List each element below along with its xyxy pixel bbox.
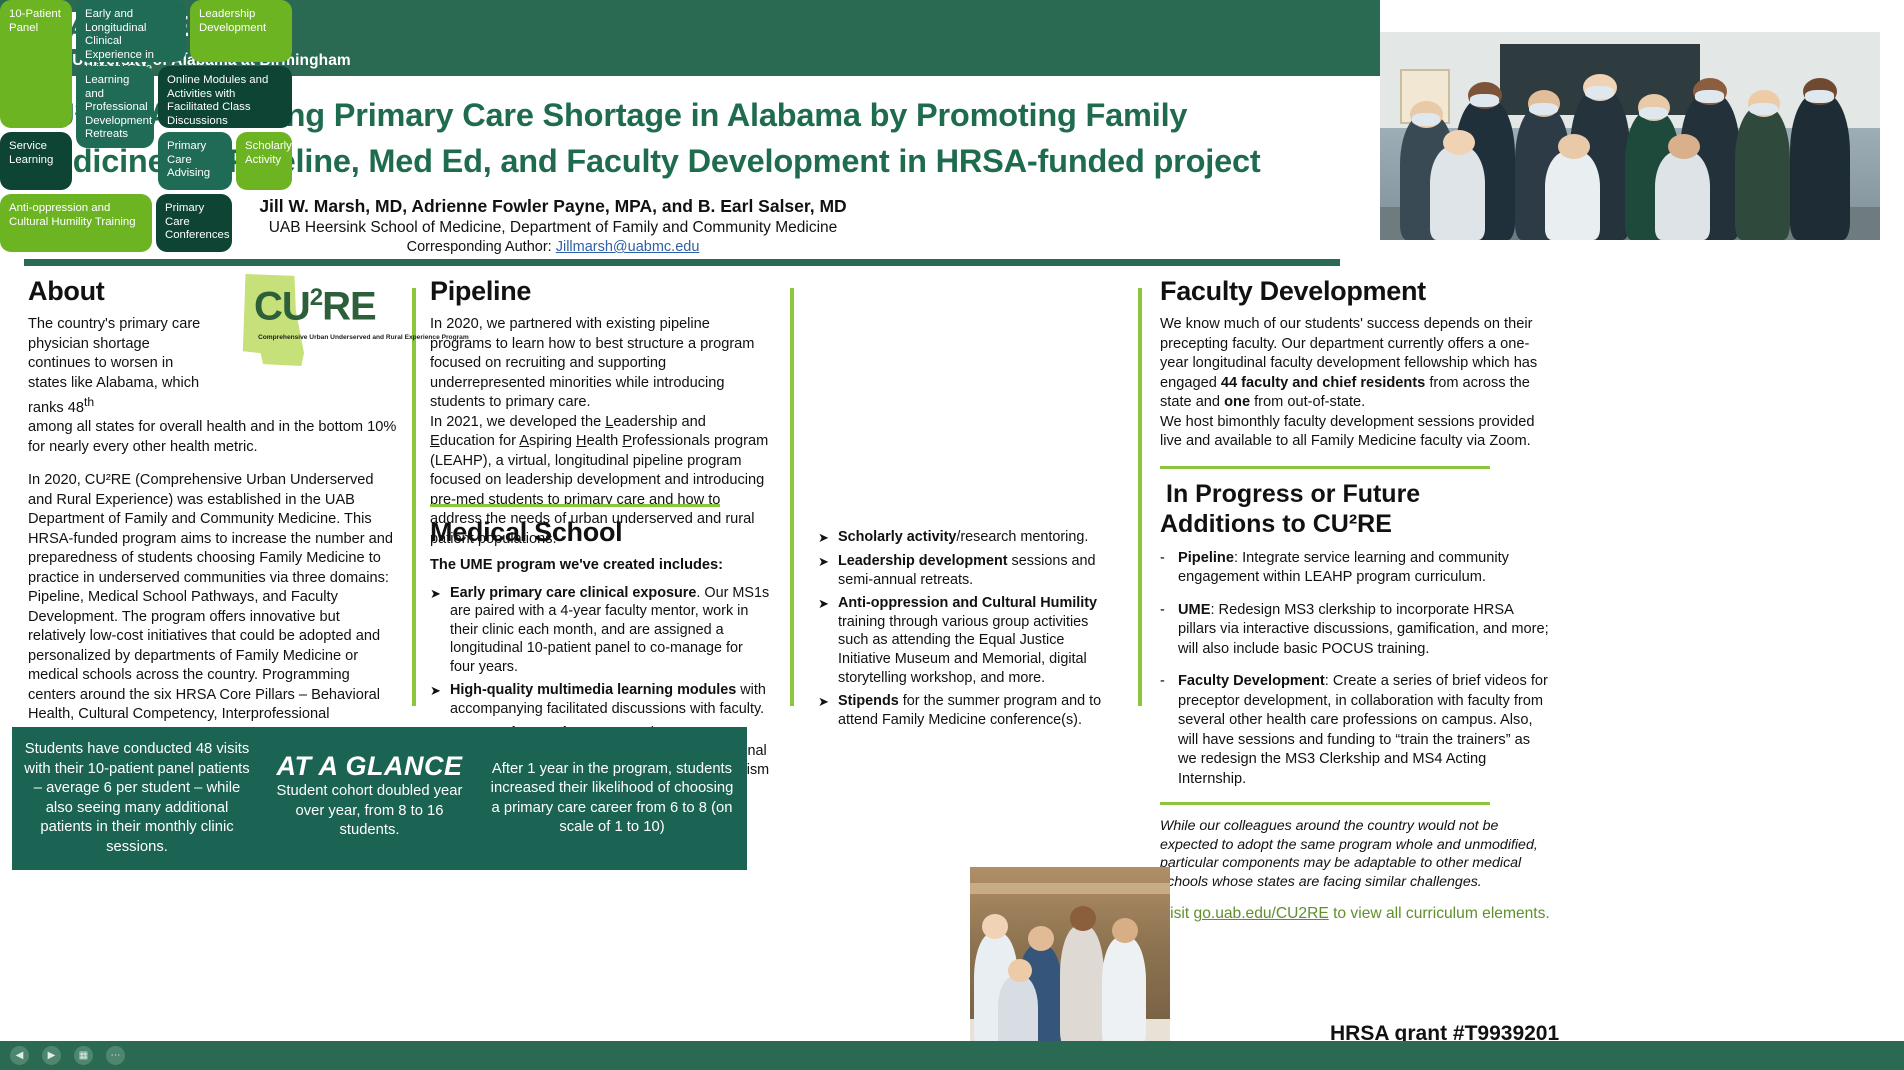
header-divider xyxy=(24,259,1340,266)
diagram-box-learning-professional-retreats: Learning and Professional Development Re… xyxy=(76,66,154,148)
back-icon[interactable]: ◀ xyxy=(10,1046,29,1065)
corresponding-label: Corresponding Author: xyxy=(407,239,556,255)
cu2re-re: RE xyxy=(322,284,376,328)
visit-line: Visit go.uab.edu/CU2RE to view all curri… xyxy=(1160,905,1550,923)
ordinal-suffix: th xyxy=(84,395,94,409)
faculty-development-heading: Faculty Development xyxy=(1160,276,1550,307)
future-item-rest: : Redesign MS3 clerkship to incorporate … xyxy=(1178,602,1549,657)
dash-bullet-icon: - xyxy=(1160,549,1168,588)
cu2re-cu: CU xyxy=(254,284,310,328)
future-additions-heading-line1: In Progress or Future xyxy=(1160,479,1550,509)
pipeline-paragraph-1: In 2020, we partnered with existing pipe… xyxy=(430,315,770,413)
future-item-bold: UME xyxy=(1178,602,1210,618)
bottom-bar xyxy=(0,1041,1904,1070)
curriculum-link[interactable]: go.uab.edu/CU2RE xyxy=(1194,905,1329,922)
diagram-box-service-learning: Service Learning xyxy=(0,132,72,190)
future-item-bold: Pipeline xyxy=(1178,550,1234,566)
list-item: ➤ Stipends for the summer program and to… xyxy=(818,692,1118,729)
bullet-bold: Anti-oppression and Cultural Humility xyxy=(838,595,1097,611)
diagram-box-primary-care-conferences: Primary Care Conferences xyxy=(156,194,232,252)
adaptability-note: While our colleagues around the country … xyxy=(1160,817,1550,891)
dash-bullet-icon: - xyxy=(1160,601,1168,660)
list-item: ➤ Leadership development sessions and se… xyxy=(818,552,1118,589)
list-item: ➤ High-quality multimedia learning modul… xyxy=(430,681,770,718)
faculty-development-section: Faculty Development We know much of our … xyxy=(1160,276,1550,923)
about-paragraph-1-top: The country's primary care physician sho… xyxy=(28,315,208,418)
diagram-box-scholarly-activity: Scholarly Activity xyxy=(236,132,292,190)
cu2re-wordmark: CU2RE xyxy=(254,284,376,329)
column-divider-2 xyxy=(790,288,794,706)
faculty-paragraph-2: We host bimonthly faculty development se… xyxy=(1160,413,1550,452)
glance-stat-cohort: Student cohort doubled year over year, f… xyxy=(274,782,465,841)
future-additions-heading-line2: Additions to CU²RE xyxy=(1160,509,1550,539)
faculty-paragraph-1: We know much of our students' success de… xyxy=(1160,315,1550,413)
diagram-box-primary-care-advising: Primary Care Advising xyxy=(158,132,232,190)
medical-school-heading: Medical School xyxy=(430,517,770,548)
corresponding-email-link[interactable]: Jillmarsh@uabmc.edu xyxy=(556,239,700,255)
at-a-glance-panel: Students have conducted 48 visits with t… xyxy=(12,727,747,870)
glance-stat-visits: Students have conducted 48 visits with t… xyxy=(12,740,262,857)
bullet-rest: training through various group activitie… xyxy=(838,614,1088,686)
list-item: - UME: Redesign MS3 clerkship to incorpo… xyxy=(1160,601,1550,660)
program-components-diagram: 10-Patient Panel Early and Longitudinal … xyxy=(0,0,300,252)
bullet-bold: Stipends xyxy=(838,693,899,709)
diagram-box-leadership-development: Leadership Development xyxy=(190,0,292,62)
bullet-bold: High-quality multimedia learning modules xyxy=(450,682,736,698)
arrow-bullet-icon: ➤ xyxy=(818,692,830,729)
medical-school-divider xyxy=(430,504,720,507)
more-icon[interactable]: ⋯ xyxy=(106,1046,125,1065)
about-paragraph-1-bottom: among all states for overall health and … xyxy=(28,418,400,457)
cu2re-superscript: 2 xyxy=(310,284,322,311)
cu2re-logo: CU2RE Comprehensive Urban Underserved an… xyxy=(228,270,428,370)
future-item-bold: Faculty Development xyxy=(1178,673,1325,689)
faculty-count-bold: 44 faculty and chief residents xyxy=(1221,375,1425,391)
diagram-box-online-modules: Online Modules and Activities with Facil… xyxy=(158,66,292,128)
faculty-divider xyxy=(1160,466,1490,469)
play-icon[interactable]: ▶ xyxy=(42,1046,61,1065)
list-item: - Faculty Development: Create a series o… xyxy=(1160,672,1550,789)
list-item: ➤ Scholarly activity/research mentoring. xyxy=(818,528,1118,547)
bullet-bold: Early primary care clinical exposure xyxy=(450,585,696,601)
arrow-bullet-icon: ➤ xyxy=(818,528,830,547)
team-group-photo xyxy=(1380,32,1880,240)
diagram-box-early-longitudinal-clinical: Early and Longitudinal Clinical Experien… xyxy=(76,0,186,62)
dash-bullet-icon: - xyxy=(1160,672,1168,789)
glance-stat-likelihood: After 1 year in the program, students in… xyxy=(477,760,747,838)
bullet-bold: Leadership development xyxy=(838,553,1008,569)
arrow-bullet-icon: ➤ xyxy=(818,594,830,687)
list-item: ➤ Anti-oppression and Cultural Humility … xyxy=(818,594,1118,687)
column-divider-3 xyxy=(1138,288,1142,706)
diagram-bullet-list: ➤ Scholarly activity/research mentoring.… xyxy=(818,528,1118,734)
bullet-rest: /research mentoring. xyxy=(956,529,1088,545)
poster-canvas: UAB HEERSINK SCHOOL OF MEDICINE The Univ… xyxy=(0,0,1904,1070)
diagram-box-10-patient-panel: 10-Patient Panel xyxy=(0,0,72,128)
students-group-photo xyxy=(970,867,1170,1062)
faculty-note-divider xyxy=(1160,802,1490,805)
bullet-bold: Scholarly activity xyxy=(838,529,956,545)
future-item-rest: : Create a series of brief videos for pr… xyxy=(1178,673,1548,787)
grid-icon[interactable]: ▦ xyxy=(74,1046,93,1065)
list-item: ➤ Early primary care clinical exposure. … xyxy=(430,584,770,677)
faculty-out-of-state-bold: one xyxy=(1224,394,1250,410)
list-item: - Pipeline: Integrate service learning a… xyxy=(1160,549,1550,588)
arrow-bullet-icon: ➤ xyxy=(430,584,442,677)
pipeline-heading: Pipeline xyxy=(430,276,770,307)
arrow-bullet-icon: ➤ xyxy=(818,552,830,589)
diagram-box-anti-oppression: Anti-oppression and Cultural Humility Tr… xyxy=(0,194,152,252)
medical-school-intro: The UME program we've created includes: xyxy=(430,556,770,576)
at-a-glance-title: AT A GLANCE xyxy=(274,757,465,777)
glance-center: AT A GLANCE Student cohort doubled year … xyxy=(262,757,477,841)
arrow-bullet-icon: ➤ xyxy=(430,681,442,718)
